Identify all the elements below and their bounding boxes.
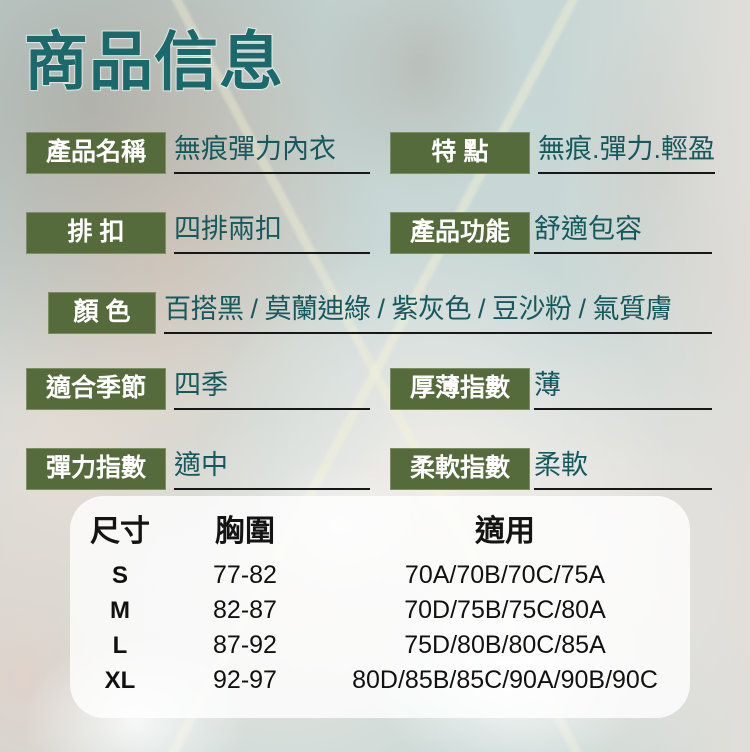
- field-label-hooks: 排 扣: [26, 212, 166, 254]
- cell-fit: 70A/70B/70C/75A: [320, 558, 690, 593]
- field-feature: 特 點 無痕.彈力.輕盈: [390, 132, 712, 174]
- field-thickness: 厚薄指數 薄: [390, 368, 712, 410]
- field-label-color: 顏 色: [48, 292, 156, 334]
- table-row: M 82-87 70D/75B/75C/80A: [70, 593, 690, 628]
- cell-bust: 92-97: [170, 663, 320, 698]
- size-chart-table: 尺寸 胸圍 適用 S 77-82 70A/70B/70C/75A M 82-87…: [70, 500, 690, 698]
- cell-size: L: [70, 628, 170, 663]
- specification-list: 產品名稱 無痕彈力內衣 特 點 無痕.彈力.輕盈 排 扣 四排兩扣 產品功能 舒…: [0, 132, 750, 528]
- field-label-function: 產品功能: [390, 212, 530, 254]
- field-function: 產品功能 舒適包容: [390, 212, 712, 254]
- field-season: 適合季節 四季: [26, 368, 370, 410]
- table-row: L 87-92 75D/80B/80C/85A: [70, 628, 690, 663]
- field-value-hooks: 四排兩扣: [174, 212, 370, 254]
- cell-fit: 75D/80B/80C/85A: [320, 628, 690, 663]
- field-softness: 柔軟指數 柔軟: [390, 448, 712, 490]
- field-label-elasticity: 彈力指數: [26, 448, 166, 490]
- cell-bust: 87-92: [170, 628, 320, 663]
- field-color: 顏 色 百搭黑 / 莫蘭迪綠 / 紫灰色 / 豆沙粉 / 氣質膚: [48, 292, 712, 334]
- cell-size: M: [70, 593, 170, 628]
- field-hooks: 排 扣 四排兩扣: [26, 212, 370, 254]
- cell-fit: 70D/75B/75C/80A: [320, 593, 690, 628]
- column-header-fit: 適用: [320, 500, 690, 558]
- field-label-thickness: 厚薄指數: [390, 368, 530, 410]
- field-label-season: 適合季節: [26, 368, 166, 410]
- field-value-softness: 柔軟: [534, 448, 712, 490]
- field-value-elasticity: 適中: [174, 448, 370, 490]
- field-elasticity: 彈力指數 適中: [26, 448, 370, 490]
- field-value-feature: 無痕.彈力.輕盈: [538, 132, 715, 174]
- field-value-function: 舒適包容: [534, 212, 712, 254]
- cell-bust: 77-82: [170, 558, 320, 593]
- table-row: XL 92-97 80D/85B/85C/90A/90B/90C: [70, 663, 690, 698]
- cell-size: XL: [70, 663, 170, 698]
- field-label-softness: 柔軟指數: [390, 448, 530, 490]
- field-label-product-name: 產品名稱: [26, 132, 166, 174]
- cell-bust: 82-87: [170, 593, 320, 628]
- spec-row: 產品名稱 無痕彈力內衣 特 點 無痕.彈力.輕盈: [0, 132, 750, 212]
- table-header-row: 尺寸 胸圍 適用: [70, 500, 690, 558]
- field-value-thickness: 薄: [534, 368, 712, 410]
- column-header-bust: 胸圍: [170, 500, 320, 558]
- column-header-size: 尺寸: [70, 500, 170, 558]
- field-label-feature: 特 點: [390, 132, 530, 174]
- cell-fit: 80D/85B/85C/90A/90B/90C: [320, 663, 690, 698]
- field-value-season: 四季: [174, 368, 370, 410]
- field-value-color: 百搭黑 / 莫蘭迪綠 / 紫灰色 / 豆沙粉 / 氣質膚: [164, 292, 712, 334]
- product-info-poster: 商品信息 產品名稱 無痕彈力內衣 特 點 無痕.彈力.輕盈 排 扣 四排兩扣 產…: [0, 0, 750, 752]
- page-title: 商品信息: [24, 30, 284, 94]
- cell-size: S: [70, 558, 170, 593]
- field-product-name: 產品名稱 無痕彈力內衣: [26, 132, 370, 174]
- spec-row: 適合季節 四季 厚薄指數 薄: [0, 368, 750, 448]
- spec-row: 排 扣 四排兩扣 產品功能 舒適包容: [0, 212, 750, 292]
- field-value-product-name: 無痕彈力內衣: [174, 132, 370, 174]
- spec-row: 顏 色 百搭黑 / 莫蘭迪綠 / 紫灰色 / 豆沙粉 / 氣質膚: [0, 292, 750, 368]
- table-row: S 77-82 70A/70B/70C/75A: [70, 558, 690, 593]
